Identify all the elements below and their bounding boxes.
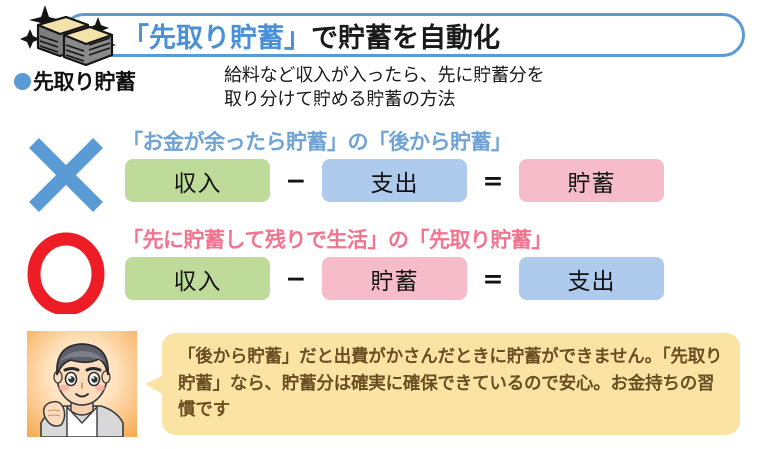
- formula-term-expense: 支出: [519, 257, 664, 300]
- formula-operator-minus: −: [270, 166, 322, 195]
- circle-mark-icon: [25, 232, 107, 314]
- person-avatar: [27, 331, 137, 437]
- page-title-highlight: 「先取り貯蓄」: [122, 16, 311, 55]
- formula-term-income: 収入: [125, 159, 270, 202]
- speech-bubble: 「後から貯蓄」だと出費がかさんだときに貯蓄ができません。「先取り貯蓄」なら、貯蓄…: [162, 333, 740, 435]
- formula-term-savings: 貯蓄: [322, 257, 467, 300]
- comparison-caption-good: 「先に貯蓄して残りで生活」の「先取り貯蓄」: [122, 224, 552, 254]
- definition-term: 先取り貯蓄: [33, 66, 136, 96]
- page-title: 「先取り貯蓄」で貯蓄を自動化: [122, 14, 722, 56]
- definition-description: 給料など収入が入ったら、先に貯蓄分を 取り分けて貯める貯蓄の方法: [224, 64, 544, 112]
- formula-operator-equals: =: [467, 166, 519, 195]
- formula-bad: 収入 − 支出 = 貯蓄: [125, 159, 664, 202]
- bullet-dot-icon: [14, 73, 31, 90]
- formula-term-savings: 貯蓄: [519, 159, 664, 202]
- money-stack-icon: [8, 3, 126, 67]
- comparison-row-good: 「先に貯蓄して残りで生活」の「先取り貯蓄」 収入 − 貯蓄 = 支出: [0, 224, 758, 320]
- definition-term-wrap: 先取り貯蓄: [14, 66, 136, 96]
- formula-good: 収入 − 貯蓄 = 支出: [125, 257, 664, 300]
- formula-operator-minus: −: [270, 264, 322, 293]
- comparison-caption-bad: 「お金が余ったら貯蓄」の「後から貯蓄」: [122, 126, 512, 156]
- page-title-rest: で貯蓄を自動化: [311, 16, 500, 55]
- formula-term-expense: 支出: [322, 159, 467, 202]
- speech-bubble-text: 「後から貯蓄」だと出費がかさんだときに貯蓄ができません。「先取り貯蓄」なら、貯蓄…: [178, 344, 726, 424]
- definition-block: 先取り貯蓄 給料など収入が入ったら、先に貯蓄分を 取り分けて貯める貯蓄の方法: [14, 66, 754, 118]
- formula-operator-equals: =: [467, 264, 519, 293]
- cross-mark-icon: [25, 134, 107, 216]
- formula-term-income: 収入: [125, 257, 270, 300]
- comparison-row-bad: 「お金が余ったら貯蓄」の「後から貯蓄」 収入 − 支出 = 貯蓄: [0, 126, 758, 222]
